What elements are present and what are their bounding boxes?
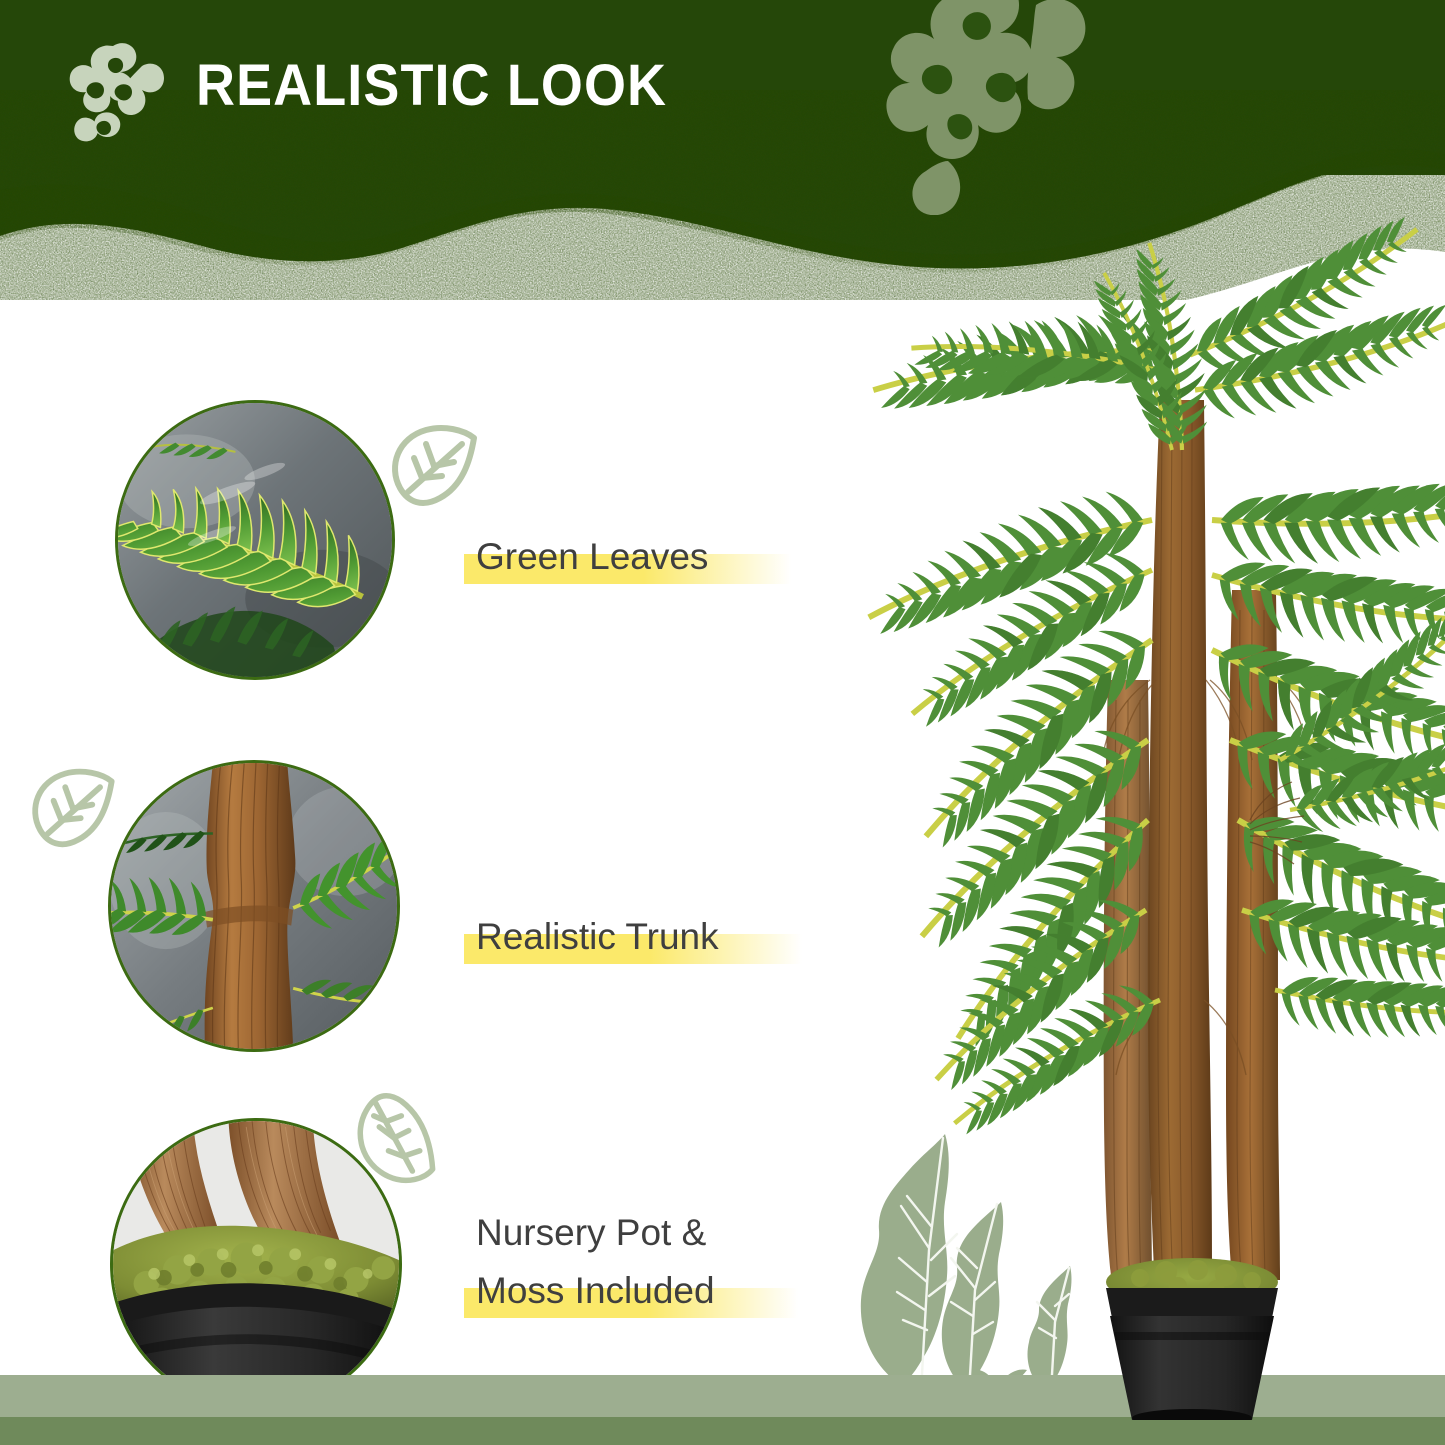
leaf-outline-icon-1 [382, 418, 482, 513]
feature-label-text: Realistic Trunk [476, 916, 719, 957]
feature-label-realistic-trunk: Realistic Trunk [476, 908, 719, 966]
monstera-leaf-icon [66, 40, 166, 145]
infographic-canvas: REALISTIC LOOK [0, 0, 1445, 1445]
feature-label-text-line2: Moss Included [476, 1270, 715, 1311]
product-image [860, 120, 1445, 1420]
feature-image-green-leaves [115, 400, 395, 680]
feature-label-green-leaves: Green Leaves [476, 528, 708, 586]
leaf-outline-icon-3 [348, 1082, 440, 1192]
feature-label-text: Green Leaves [476, 536, 708, 577]
leaf-outline-icon-2 [22, 762, 120, 854]
page-title: REALISTIC LOOK [196, 52, 667, 119]
feature-image-realistic-trunk [108, 760, 400, 1052]
feature-label-text-line1: Nursery Pot & [476, 1212, 706, 1253]
footer-dark-band [0, 1417, 1445, 1445]
feature-label-nursery-pot-moss: Nursery Pot & Moss Included [476, 1204, 715, 1320]
